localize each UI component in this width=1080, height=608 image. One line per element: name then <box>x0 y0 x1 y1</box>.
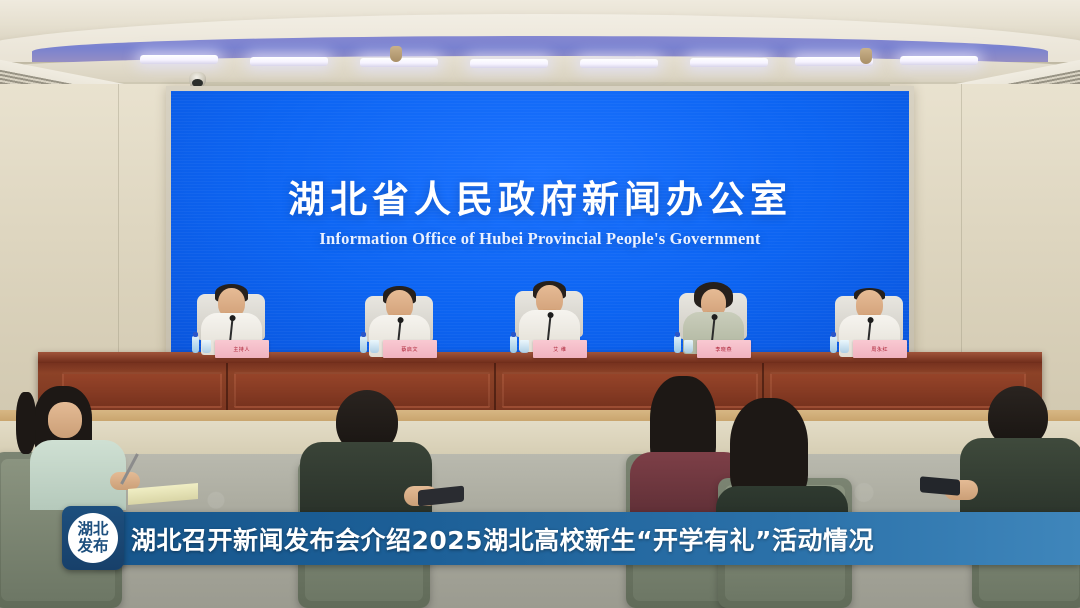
spotlight-icon <box>390 46 402 62</box>
nameplate-seat-4: 李晓燕 <box>697 340 751 358</box>
stage-front <box>0 421 1080 455</box>
lower-third-headline: 湖北召开新闻发布会介绍2025湖北高校新生“开学有礼”活动情况 <box>131 521 874 557</box>
nameplate-seat-1: 主持人 <box>215 340 269 358</box>
water-glass-icon <box>840 340 849 353</box>
channel-logo-line2: 发布 <box>77 539 108 555</box>
screen-title-block: 湖北省人民政府新闻办公室 Information Office of Hubei… <box>171 169 909 249</box>
table-seam <box>494 363 496 414</box>
broadcast-frame: 湖北省人民政府新闻办公室 Information Office of Hubei… <box>0 0 1080 608</box>
ceiling-light-icon <box>690 58 768 67</box>
lower-third-banner: 湖北召开新闻发布会介绍2025湖北高校新生“开学有礼”活动情况 <box>95 512 1080 565</box>
ceiling-light-icon <box>470 59 548 68</box>
nameplate-text: 主持人 <box>234 346 251 353</box>
water-bottle-icon <box>510 336 517 353</box>
ceiling-light-icon <box>140 55 218 64</box>
screen-title-english: Information Office of Hubei Provincial P… <box>171 229 909 249</box>
table-panel <box>770 372 1026 408</box>
water-bottle-icon <box>192 336 199 353</box>
ceiling-light-icon <box>900 56 978 65</box>
water-glass-icon <box>520 340 529 353</box>
nameplate-seat-3: 艾 维 <box>533 340 587 358</box>
screen-title-chinese: 湖北省人民政府新闻办公室 <box>171 169 909 223</box>
channel-logo-disc: 湖北 发布 <box>68 513 118 563</box>
water-bottle-icon <box>360 336 367 353</box>
table-panel <box>502 372 758 408</box>
spotlight-icon <box>860 48 872 64</box>
panel-table <box>38 352 1042 414</box>
ceiling-light-icon <box>580 59 658 68</box>
nameplate-text: 周永红 <box>872 346 889 353</box>
water-bottle-icon <box>674 336 681 353</box>
channel-logo-line1: 湖北 <box>77 522 108 538</box>
channel-logo-badge: 湖北 发布 <box>62 506 124 570</box>
table-seam <box>226 363 228 414</box>
nameplate-text: 艾 维 <box>553 346 566 353</box>
nameplate-seat-2: 蔡启文 <box>383 340 437 358</box>
water-glass-icon <box>202 340 211 353</box>
audience-torso <box>960 438 1080 514</box>
nameplate-seat-5: 周永红 <box>853 340 907 358</box>
water-glass-icon <box>370 340 379 353</box>
nameplate-text: 李晓燕 <box>716 346 733 353</box>
water-bottle-icon <box>830 336 837 353</box>
phone-icon <box>920 476 960 495</box>
nameplate-text: 蔡启文 <box>402 346 419 353</box>
water-glass-icon <box>684 340 693 353</box>
audience-ponytail <box>16 392 36 454</box>
ceiling-light-icon <box>250 57 328 66</box>
audience-face <box>48 402 82 438</box>
